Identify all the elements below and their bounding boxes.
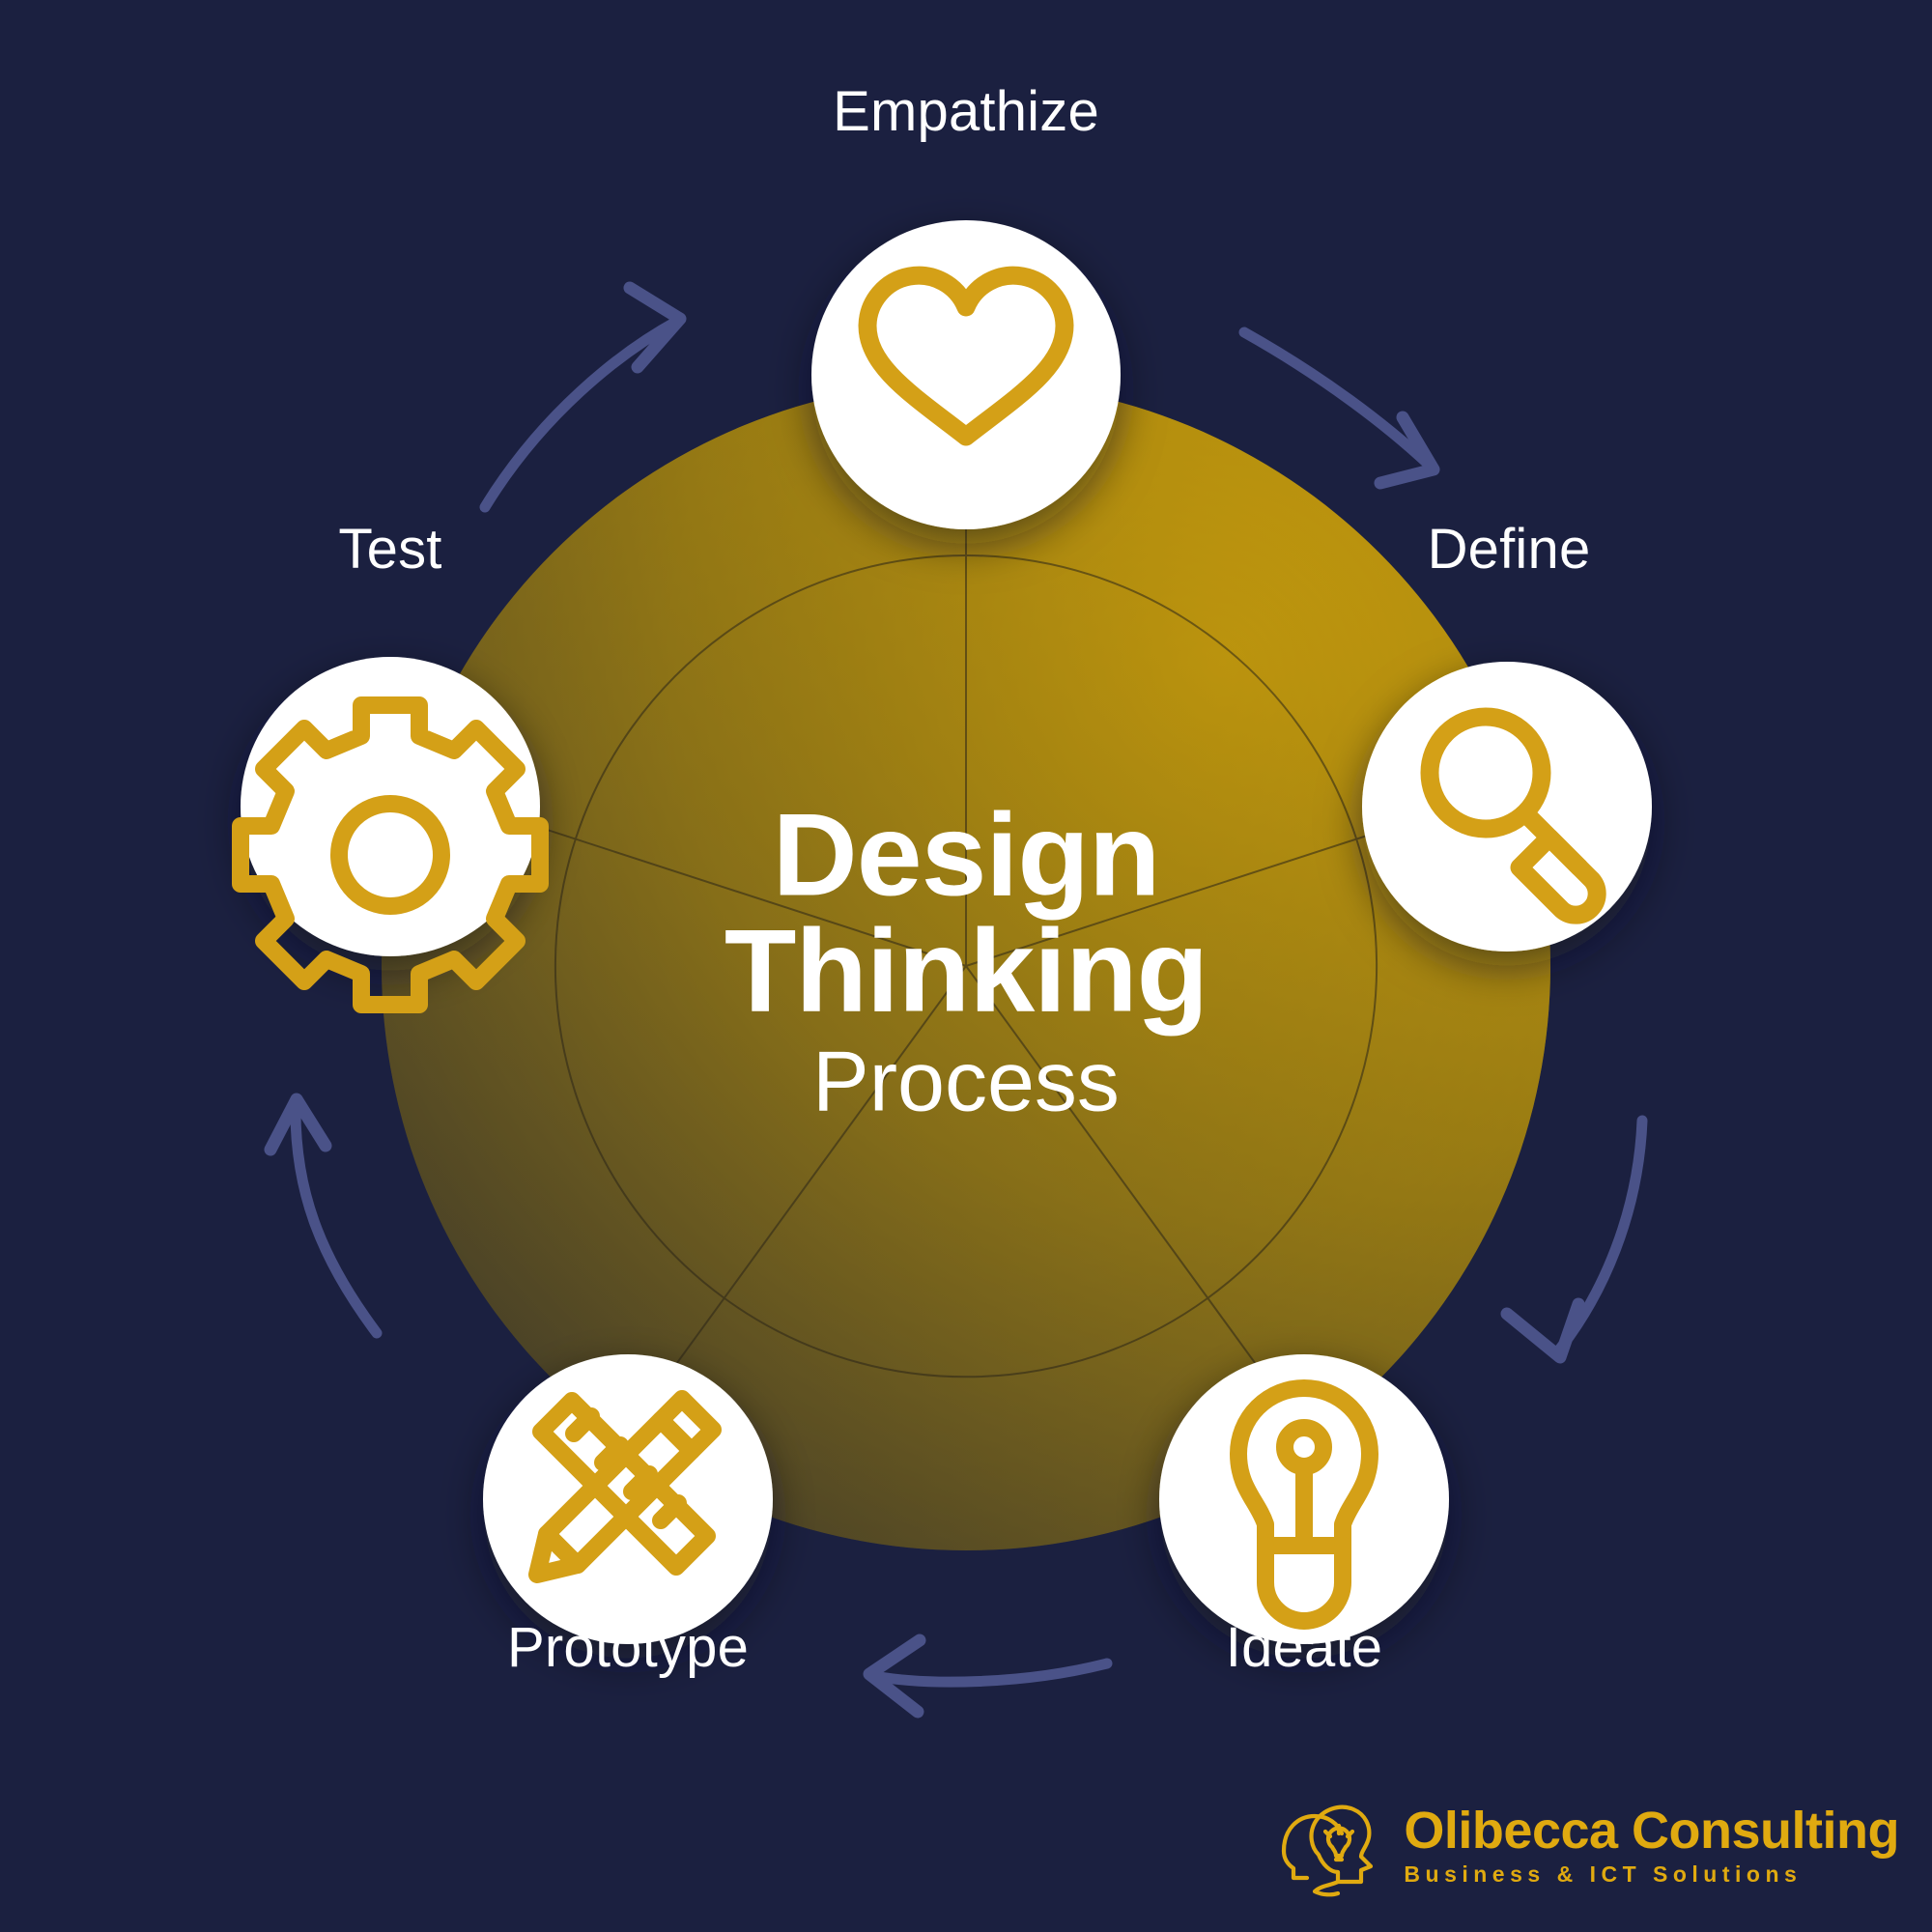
stage-label-define: Define: [1428, 517, 1591, 582]
stage-circle-prototype[interactable]: [483, 1354, 773, 1644]
stage-label-empathize: Empathize: [833, 79, 1099, 144]
stage-circle-empathize[interactable]: [811, 220, 1121, 529]
arrow-ideate-to-prototype: [869, 1640, 1107, 1712]
arrow-define-to-ideate: [1507, 1121, 1642, 1357]
logo-tagline: Business & ICT Solutions: [1404, 1863, 1802, 1886]
diagram-canvas: [0, 0, 1932, 1932]
stage-label-test: Test: [338, 517, 441, 582]
logo-company-name: Olibecca Consulting: [1404, 1804, 1899, 1857]
two-heads-lightbulb-icon: [1274, 1791, 1390, 1899]
design-thinking-infographic: Empathize Define Ideate Prototype Test D…: [0, 0, 1932, 1932]
stage-circle-define[interactable]: [1362, 662, 1652, 952]
stage-circle-test[interactable]: [241, 657, 540, 1005]
arrow-prototype-to-test: [270, 1099, 377, 1333]
stage-circle-ideate[interactable]: [1159, 1354, 1449, 1644]
brand-logo: Olibecca Consulting Business & ICT Solut…: [1274, 1791, 1899, 1899]
stage-label-prototype: Prototype: [507, 1615, 749, 1680]
stage-label-ideate: Ideate: [1226, 1615, 1382, 1680]
arrow-empathize-to-define: [1244, 332, 1434, 483]
